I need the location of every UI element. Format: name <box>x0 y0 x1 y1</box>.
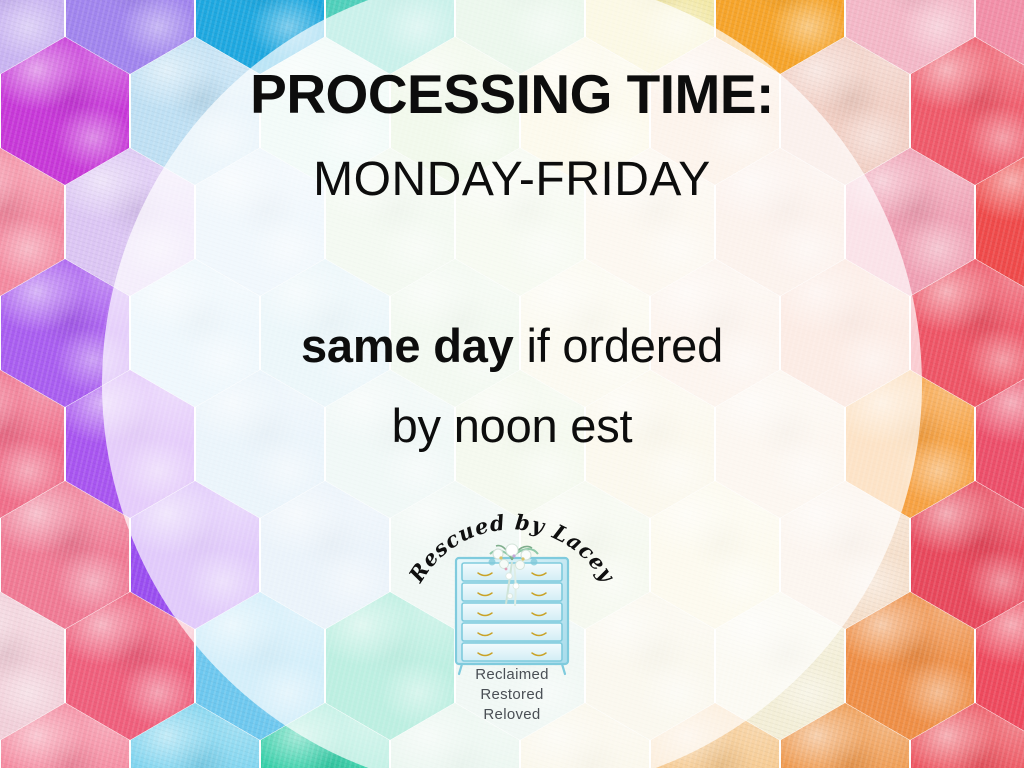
body-line-1: same day if ordered <box>0 318 1024 373</box>
body-line-2: by noon est <box>0 398 1024 453</box>
body-emphasis-same-day: same day <box>301 319 514 372</box>
brand-tagline: Reclaimed Restored Reloved <box>402 665 622 725</box>
headline-processing-time: PROCESSING TIME: <box>0 62 1024 126</box>
tagline-line-2: Restored <box>402 685 622 705</box>
promo-graphic: PROCESSING TIME: MONDAY-FRIDAY same day … <box>0 0 1024 768</box>
tagline-line-3: Reloved <box>402 705 622 725</box>
brand-logo: Rescued by Lacey <box>402 487 622 737</box>
body-line-1-rest: if ordered <box>514 319 723 372</box>
subhead-days: MONDAY-FRIDAY <box>0 152 1024 207</box>
tagline-line-1: Reclaimed <box>402 665 622 685</box>
dresser-illustration <box>442 542 582 682</box>
